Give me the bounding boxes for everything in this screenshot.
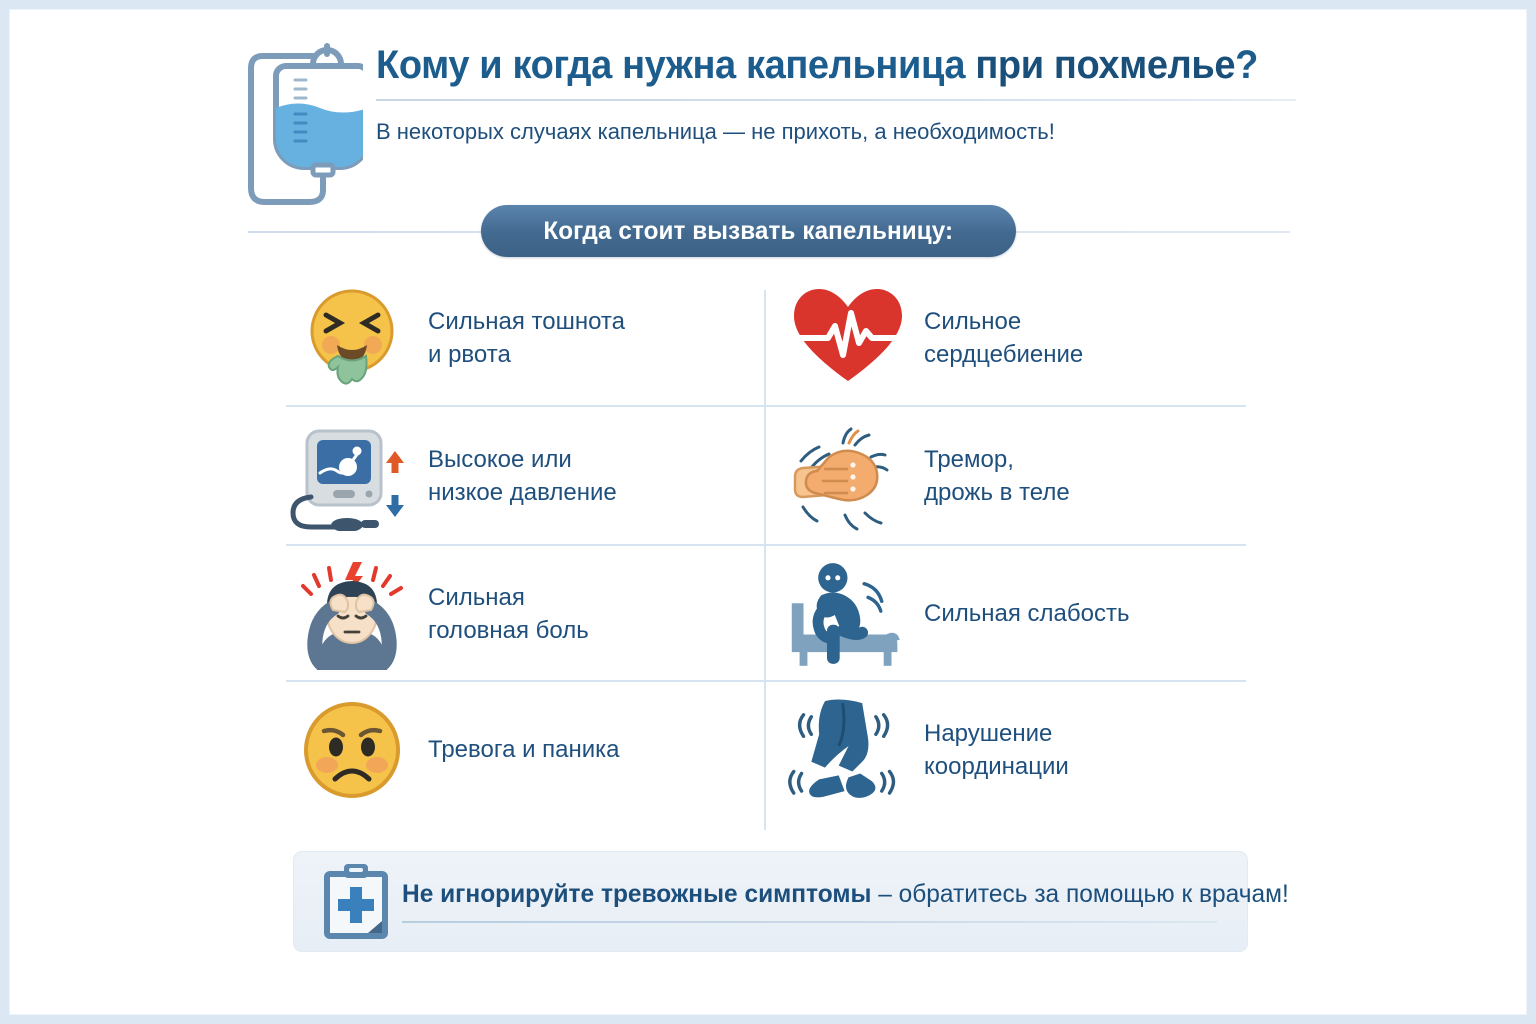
symptom-label-line1: Тремор,	[924, 443, 1070, 476]
symptom-label-line1: Сильное	[924, 305, 1083, 338]
vomiting-face-icon	[286, 277, 418, 399]
title-divider	[376, 99, 1296, 101]
blood-pressure-monitor-icon	[286, 415, 418, 537]
symptoms-grid: Сильная тошнота и рвота Сильное сердцеби…	[286, 272, 1246, 817]
symptom-item-blood-pressure: Высокое или низкое давление	[286, 412, 754, 540]
symptom-label-line1: Сильная	[428, 581, 589, 614]
footer-message-bold: Не игнорируйте тревожные симптомы	[402, 880, 878, 908]
header: Кому и когда нужна капельница при похмел…	[243, 32, 1298, 192]
symptom-label: Высокое или низкое давление	[428, 443, 617, 509]
grid-horizontal-divider-3	[286, 680, 1246, 682]
symptom-label-line2: координации	[924, 750, 1069, 783]
page-title: Кому и когда нужна капельница при похмел…	[376, 42, 1252, 88]
headache-person-icon	[286, 553, 418, 675]
symptom-label-line1: Тревога и паника	[428, 733, 620, 766]
symptom-item-anxiety: Тревога и паника	[286, 686, 754, 814]
symptom-label: Сильное сердцебиение	[924, 305, 1083, 371]
grid-horizontal-divider-2	[286, 544, 1246, 546]
medical-clipboard-icon	[310, 862, 402, 942]
symptom-label: Сильная головная боль	[428, 581, 589, 647]
symptom-item-coordination: Нарушение координации	[782, 686, 1250, 814]
symptom-label-line1: Нарушение	[924, 717, 1069, 750]
section-badge: Когда стоит вызвать капельницу:	[481, 205, 1016, 257]
footer-body: Не игнорируйте тревожные симптомы – обра…	[402, 880, 1325, 923]
worried-face-icon	[286, 689, 418, 811]
wobbly-legs-icon	[782, 689, 914, 811]
symptom-label-line1: Сильная слабость	[924, 597, 1129, 630]
grid-vertical-divider	[764, 290, 766, 830]
symptom-label: Тремор, дрожь в теле	[924, 443, 1070, 509]
symptom-label: Тревога и паника	[428, 733, 620, 766]
footer-message: Не игнорируйте тревожные симптомы – обра…	[402, 880, 1289, 909]
page-title-part2: при похмелье	[975, 43, 1235, 87]
infographic-canvas: Кому и когда нужна капельница при похмел…	[0, 0, 1536, 1024]
symptom-item-palpitations: Сильное сердцебиение	[782, 274, 1250, 402]
symptom-item-weakness: Сильная слабость	[782, 550, 1250, 678]
symptom-label-line2: низкое давление	[428, 476, 617, 509]
symptom-label-line1: Высокое или	[428, 443, 617, 476]
footer-callout: Не игнорируйте тревожные симптомы – обра…	[293, 851, 1248, 952]
footer-divider	[402, 921, 1217, 923]
symptom-label: Нарушение координации	[924, 717, 1069, 783]
page-title-part1: Кому и когда нужна капельница	[376, 43, 975, 87]
symptom-label-line2: и рвота	[428, 338, 625, 371]
page-title-part3: ?	[1235, 43, 1258, 87]
iv-drip-bag-icon	[243, 34, 363, 209]
symptom-label-line1: Сильная тошнота	[428, 305, 625, 338]
symptom-item-headache: Сильная головная боль	[286, 550, 754, 678]
page-subtitle: В некоторых случаях капельница — не прих…	[376, 118, 1298, 146]
symptom-item-nausea: Сильная тошнота и рвота	[286, 274, 754, 402]
symptom-label-line2: головная боль	[428, 614, 589, 647]
symptom-label: Сильная слабость	[924, 597, 1129, 630]
footer-message-light: – обратитесь за помощью к врачам!	[878, 880, 1289, 908]
header-text-block: Кому и когда нужна капельница при похмел…	[376, 42, 1298, 146]
symptom-label-line2: дрожь в теле	[924, 476, 1070, 509]
symptom-item-tremor: Тремор, дрожь в теле	[782, 412, 1250, 540]
grid-horizontal-divider-1	[286, 405, 1246, 407]
shaking-hands-icon	[782, 415, 914, 537]
person-sitting-on-bed-icon	[782, 553, 914, 675]
section-badge-label: Когда стоит вызвать капельницу:	[544, 217, 954, 246]
symptom-label-line2: сердцебиение	[924, 338, 1083, 371]
infographic-page: Кому и когда нужна капельница при похмел…	[0, 0, 1536, 1024]
heart-pulse-icon	[782, 277, 914, 399]
symptom-label: Сильная тошнота и рвота	[428, 305, 625, 371]
